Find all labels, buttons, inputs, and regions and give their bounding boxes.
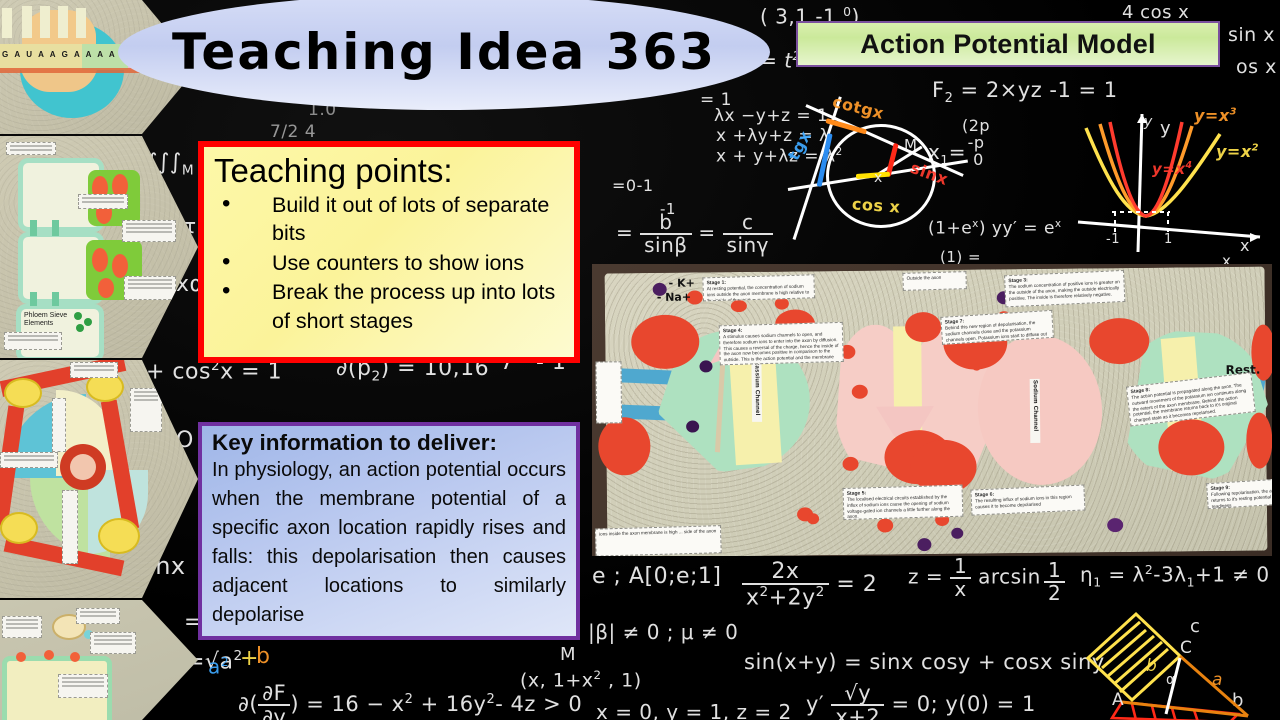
point-m-label: M xyxy=(904,136,917,154)
x-pos1-tick-label: 1 xyxy=(1164,232,1173,247)
side-b-label: b xyxy=(1146,656,1157,676)
photo-carbon-cycle-wheel[interactable] xyxy=(0,360,198,598)
stage-card: Outside the axon xyxy=(902,271,966,291)
trna-tag xyxy=(2,8,12,38)
handwritten-label: Phloem Sieve Elements xyxy=(24,312,76,329)
chalk-equation: M xyxy=(560,644,576,665)
ion-counter xyxy=(807,513,819,524)
potassium-counter xyxy=(699,360,712,372)
teaching-points-heading: Teaching points: xyxy=(214,153,564,189)
stage-card-text: ions inside the axon membrane is high ..… xyxy=(599,528,716,536)
ion-counter xyxy=(842,457,858,471)
label-card xyxy=(130,388,162,432)
stage-card-text: The localised electrical circuits establ… xyxy=(847,494,950,519)
chalk-equation: e ; A[0;e;1] xyxy=(592,564,722,589)
handwriting-potassium: - K+ xyxy=(669,277,695,290)
sucrose-counter xyxy=(74,312,82,320)
trna-tag xyxy=(22,6,32,38)
chloroplast xyxy=(98,278,114,298)
trna-tag xyxy=(40,6,50,38)
ion-counter xyxy=(852,385,868,399)
protein-marker xyxy=(44,650,54,660)
label-card xyxy=(58,674,108,698)
label-card xyxy=(76,608,120,624)
stage-card: Stage 6: The resulting influx of sodium … xyxy=(970,484,1085,515)
vertex-c-label: C xyxy=(1180,638,1192,658)
ion-counter xyxy=(731,300,747,312)
teaching-point-item: Use counters to show ions xyxy=(214,249,564,278)
pythagoras-doodle: C a b A α xyxy=(1062,602,1280,720)
y-eq-x2-label: y=x2 xyxy=(1216,142,1259,161)
label-card xyxy=(78,194,128,209)
trna-tag xyxy=(58,6,68,38)
teaching-point-item: Build it out of lots of separate bits xyxy=(214,191,564,248)
vertex-a-label: A xyxy=(1112,690,1124,710)
yellow-counter xyxy=(98,518,140,554)
power-functions-doodle: y=x3 y=x2 y=x4 y -1 1 xyxy=(1060,92,1275,257)
stage-card-text: Outside the axon xyxy=(906,275,941,281)
chalk-equation: a2 xyxy=(208,654,229,679)
protein-marker xyxy=(16,652,26,662)
ion-counter xyxy=(1246,412,1272,468)
chloroplast xyxy=(112,254,128,278)
label-card xyxy=(90,632,136,654)
chalk-equation: 2xx2+2y2 = 2 xyxy=(742,560,877,610)
label-card xyxy=(4,332,62,350)
photo-cell-organelle-model[interactable] xyxy=(0,600,198,720)
stage-card: Stage 5: The localised electrical circui… xyxy=(843,485,964,520)
ion-counter xyxy=(1089,318,1149,365)
teaching-points-list: Build it out of lots of separate bits Us… xyxy=(214,191,564,336)
teaching-points-box: Teaching points: Build it out of lots of… xyxy=(198,141,580,363)
handwriting-sodium: - Na+ xyxy=(657,291,691,304)
key-information-body: In physiology, an action potential occur… xyxy=(212,456,566,630)
label-card xyxy=(122,220,176,242)
label-card xyxy=(70,362,118,378)
photo-phloem-model[interactable]: Phloem Sieve Elements xyxy=(0,136,198,358)
plasmodesma xyxy=(52,292,59,306)
stage-card-text: At resting potential, the concentration … xyxy=(707,284,810,302)
chalk-equation: sin x xyxy=(1228,24,1275,46)
yellow-counter xyxy=(4,378,42,408)
wheel-hub-inner xyxy=(70,454,96,480)
label-card xyxy=(52,398,66,452)
stage-card-text: Following repolarisation, the axon retur… xyxy=(1211,488,1272,509)
x-neg1-tick-label: -1 xyxy=(1106,232,1120,247)
tgx-label: tgx xyxy=(784,127,815,163)
chalk-equation: sin(x+y) = sinx cosy + cosx siny xyxy=(744,650,1105,674)
trna-tag xyxy=(76,8,86,38)
chalk-equation: 4 cos x xyxy=(1122,2,1189,23)
stage-card: Stage 3: The sodium concentration of pos… xyxy=(1004,270,1125,307)
protein-marker xyxy=(70,652,80,662)
stage-card-bottom: ions inside the axon membrane is high ..… xyxy=(595,525,722,556)
side-a-label: a xyxy=(1212,670,1223,690)
yellow-counter xyxy=(0,512,38,544)
sucrose-counter xyxy=(76,324,84,332)
angle-alpha-label: α xyxy=(1166,672,1176,688)
chalk-equation: x = 0, y = 1, z = 2 xyxy=(596,700,792,720)
trig-circle-doodle: cotgx tgx sinx cos x M x xyxy=(786,96,976,246)
chalk-equation: |β| ≠ 0 ; μ ≠ 0 xyxy=(588,620,738,644)
stage-card: Stage 4: A stimulus causes sodium channe… xyxy=(719,322,844,365)
plasmodesma xyxy=(30,220,37,236)
sodium-channel-label: Sodium Channel xyxy=(1030,379,1041,443)
potassium-counter xyxy=(686,420,699,432)
ion-counter xyxy=(598,417,651,476)
stage-card: Stage 9: Following repolarisation, the a… xyxy=(1206,478,1272,509)
label-card xyxy=(6,142,56,155)
chalk-equation: z = 1x arcsin xyxy=(908,556,1041,600)
chalk-equation: 12 xyxy=(1044,560,1065,604)
chalk-equation: b xyxy=(256,644,270,669)
slide-root: ( 3,1 -1 0) 4 cos x sin x os x 2 = t2 = … xyxy=(0,0,1280,720)
pythagoras-svg xyxy=(1062,602,1280,720)
ion-counter xyxy=(877,518,893,532)
key-information-heading: Key information to deliver: xyxy=(212,430,566,455)
chalk-equation: os x xyxy=(1236,56,1277,78)
potassium-counter xyxy=(1107,518,1123,532)
chalk-equation: =0-1 xyxy=(612,176,654,195)
angle-x-label: x xyxy=(874,170,883,186)
model-table-surface: Potassium Channel Sodium Channel xyxy=(605,267,1268,556)
chalk-equation: y′ √yx+2 = 0; y(0) = 1 xyxy=(806,682,1036,720)
label-card xyxy=(124,276,176,300)
y-eq-x4-label: y=x4 xyxy=(1152,160,1193,178)
sucrose-counter xyxy=(84,318,92,326)
key-information-box: Key information to deliver: In physiolog… xyxy=(198,422,580,640)
plasmodesma xyxy=(30,292,37,306)
stage-card: Stage 1: At resting potential, the conce… xyxy=(702,274,815,301)
chalk-equation: (x, 1+x2 , 1) xyxy=(520,668,642,691)
chalk-equation: 7/2 4 xyxy=(270,122,316,142)
label-card xyxy=(62,490,78,564)
chloroplast xyxy=(92,248,108,272)
stage-card xyxy=(595,361,622,423)
topic-badge-label: Action Potential Model xyxy=(860,29,1155,60)
potassium-counter xyxy=(951,528,963,539)
chalk-equation: = bsinβ = csinγ xyxy=(616,212,773,256)
y-eq-x3-label: y=x3 xyxy=(1194,106,1237,125)
chalk-equation: η1 = λ2-3λ1+1 ≠ 0 xyxy=(1080,562,1270,590)
label-card xyxy=(0,452,58,468)
stage-card-text: A stimulus causes sodium channels to ope… xyxy=(723,332,839,366)
potassium-counter xyxy=(917,538,931,551)
teaching-point-item: Break the process up into lots of short … xyxy=(214,278,564,335)
topic-badge: Action Potential Model xyxy=(796,21,1220,67)
cosx-label: cos x xyxy=(851,194,901,216)
plasmodesma xyxy=(52,220,59,236)
page-title: Teaching Idea 363 xyxy=(118,0,770,110)
label-card xyxy=(2,616,42,638)
y-axis-label: y xyxy=(1144,114,1153,130)
action-potential-model-photo[interactable]: Potassium Channel Sodium Channel xyxy=(592,264,1272,556)
